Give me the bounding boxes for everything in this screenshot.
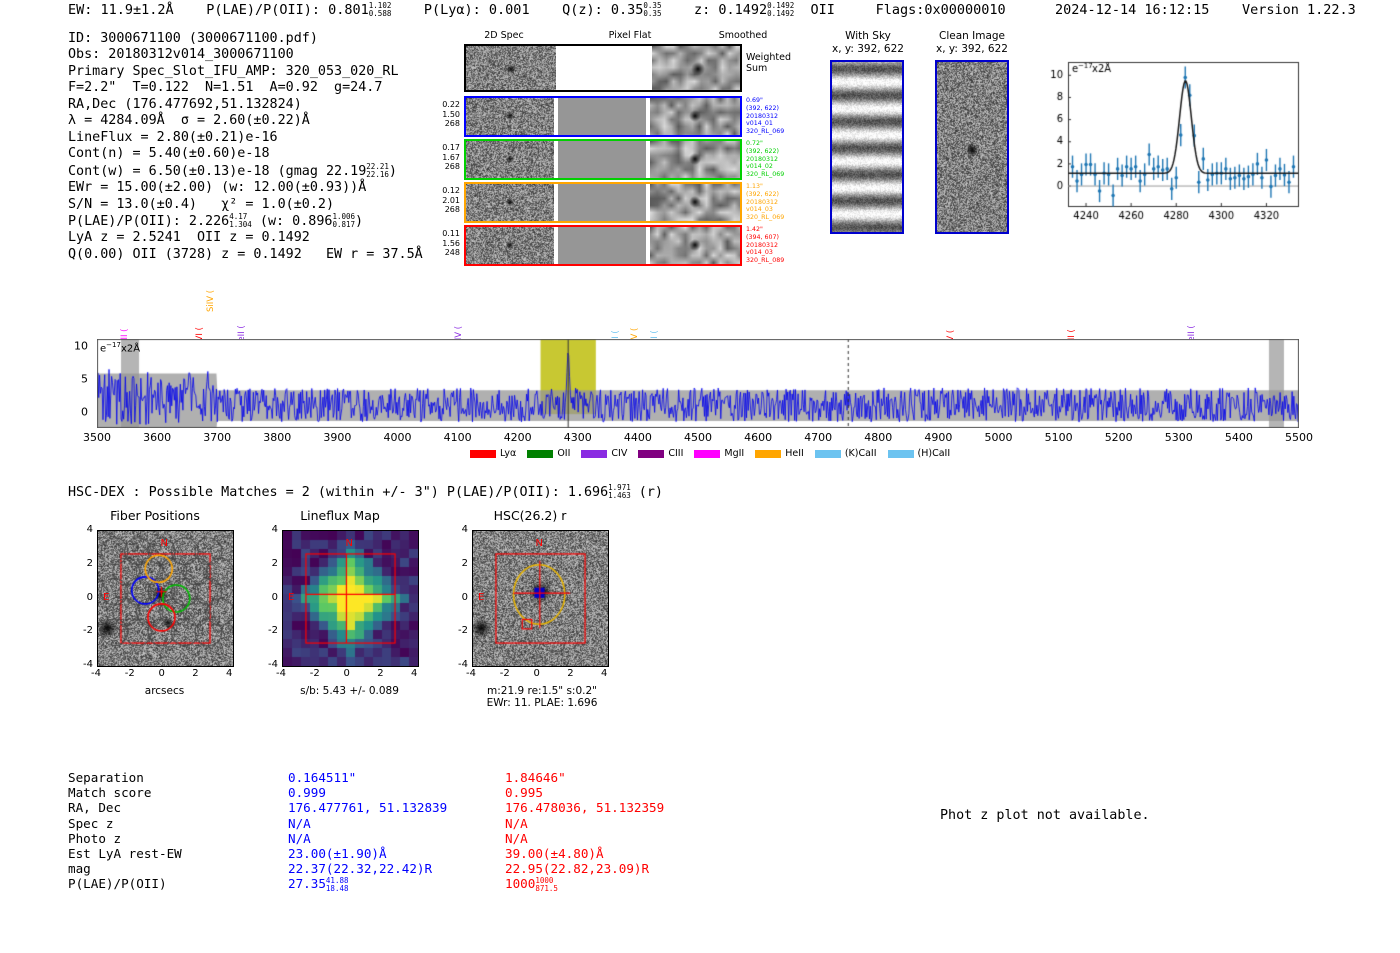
- fiber-right-meta: 1.42"(394, 607)20180312v014_03320_RL_089: [746, 226, 784, 265]
- fiber-right-meta: 0.69"(392, 622)20180312v014_01320_RL_069: [746, 97, 784, 136]
- fiber-rows-container: 0.221.502680.69"(392, 622)20180312v014_0…: [430, 96, 820, 268]
- spec2d-panel: 2D Spec Pixel Flat Smoothed Weighted Sum…: [430, 30, 820, 270]
- match-value-col1: N/A: [288, 816, 311, 831]
- cutout-x-tick: -2: [125, 668, 135, 679]
- header-qz: Q(z): 0.35: [562, 2, 643, 18]
- cutout-xlabel: arcsecs: [97, 685, 232, 697]
- fiber-image-strip: [464, 139, 742, 180]
- match-value-col1: 22.37(22.32,22.42)R: [288, 861, 432, 876]
- x-tick: 4400: [624, 431, 652, 444]
- header-datetime: 2024-12-14 16:12:15: [1055, 2, 1209, 18]
- match-value-col1: 23.00(±1.90)Å: [288, 846, 387, 861]
- header-z: z: 0.1492: [694, 2, 767, 18]
- clean-image-title: Clean Imagex, y: 392, 622: [922, 30, 1022, 56]
- clean-image-image: [935, 60, 1009, 234]
- x-tick: 5300: [1165, 431, 1193, 444]
- header-plae-range: 1.1020.588: [369, 2, 392, 18]
- x-tick: 3800: [263, 431, 291, 444]
- legend-swatch: [888, 450, 914, 458]
- legend-label: Lyα: [500, 448, 516, 459]
- cutout-y-tick: -4: [77, 659, 93, 670]
- header-z-range: 0.14920.1492: [767, 2, 794, 18]
- photz-note: Phot z plot not available.: [940, 808, 1150, 823]
- cutout-x-tick: -2: [310, 668, 320, 679]
- legend-swatch: [581, 450, 607, 458]
- match-row-label: P(LAE)/P(OII): [68, 876, 278, 891]
- header-timestamp-version: 2024-12-14 16:12:15 Version 1.22.3: [1055, 2, 1356, 18]
- emission-line-fit-plot: [1032, 52, 1304, 234]
- detection-info-block: ID: 3000671100 (3000671100.pdf) Obs: 201…: [68, 31, 423, 263]
- cutout-y-tick: -4: [452, 659, 468, 670]
- x-tick: 5000: [985, 431, 1013, 444]
- legend-label: (K)CaII: [845, 448, 877, 459]
- cutout-y-tick: 4: [77, 524, 93, 535]
- fiber-left-stats: 0.122.01268: [430, 186, 460, 215]
- cutout-y-tick: -4: [262, 659, 278, 670]
- legend-label: CIV: [611, 448, 627, 459]
- info-line-id: ID: 3000671100 (3000671100.pdf): [68, 31, 423, 47]
- lineflux-axis-ticks: -4-4-2-2002244NE: [240, 508, 440, 708]
- legend-swatch: [527, 450, 553, 458]
- legend-swatch: [638, 450, 664, 458]
- header-flags: Flags:0x00000010: [876, 2, 1006, 18]
- fiber-row: 0.221.502680.69"(392, 622)20180312v014_0…: [430, 96, 820, 139]
- x-tick: 4700: [804, 431, 832, 444]
- x-tick: 4100: [444, 431, 472, 444]
- cutout-y-tick: 2: [452, 558, 468, 569]
- info-line-q: Q(0.00) OII (3728) z = 0.1492 EW r = 37.…: [68, 247, 423, 263]
- fiber-left-stats: 0.171.67268: [430, 143, 460, 172]
- legend-item: OII: [527, 448, 570, 459]
- info-line-ewr: EWr = 15.00(±2.00) (w: 12.00(±0.93))Å: [68, 180, 423, 196]
- cutout-x-tick: 0: [534, 668, 540, 679]
- x-tick: 3500: [83, 431, 111, 444]
- cutout-x-tick: 4: [601, 668, 607, 679]
- x-tick: 5500: [1285, 431, 1313, 444]
- match-row-label: Est LyA rest-EW: [68, 846, 278, 861]
- cutout-lineflux-map: Lineflux Map -4-4-2-2002244NE s/b: 5.43 …: [240, 508, 440, 523]
- legend-label: OII: [557, 448, 570, 459]
- full-spectrum-plot: CIII (OVI (HeII (SiIV (SiIV (OII (CIV (O…: [0, 280, 1400, 470]
- x-tick: 4300: [564, 431, 592, 444]
- header-qz-range: 0.350.35: [643, 2, 661, 18]
- spectrum-x-axis: 3500360037003800390040004100420043004400…: [97, 430, 1299, 448]
- legend-swatch: [470, 450, 496, 458]
- legend-item: (K)CaII: [815, 448, 877, 459]
- match-value-col2: N/A: [505, 816, 528, 831]
- weighted-sum-row: [464, 44, 742, 92]
- fiber-left-stats: 0.111.56248: [430, 229, 460, 258]
- spectrum-legend: LyαOIICIVCIIIMgIIHeII(K)CaII(H)CaII: [470, 448, 950, 459]
- cutout-x-tick: 4: [226, 668, 232, 679]
- legend-label: (H)CaII: [918, 448, 951, 459]
- match-row-label: Photo z: [68, 831, 278, 846]
- legend-item: HeII: [755, 448, 804, 459]
- legend-item: CIV: [581, 448, 627, 459]
- cutout-x-tick: 0: [159, 668, 165, 679]
- match-value-col2-range: 1000871.5: [535, 877, 558, 893]
- legend-label: MgII: [724, 448, 744, 459]
- x-tick: 4600: [744, 431, 772, 444]
- col-title-2dspec: 2D Spec: [444, 30, 564, 41]
- cutout-x-tick: 2: [377, 668, 383, 679]
- legend-item: Lyα: [470, 448, 516, 459]
- cutout-y-tick: -2: [262, 625, 278, 636]
- info-line-obs: Obs: 20180312v014_3000671100: [68, 47, 423, 63]
- info-line-primary-spec: Primary Spec_Slot_IFU_AMP: 320_053_020_R…: [68, 64, 423, 80]
- legend-swatch: [755, 450, 781, 458]
- weighted-sum-label: Weighted Sum: [746, 52, 791, 74]
- x-tick: 5400: [1225, 431, 1253, 444]
- legend-item: (H)CaII: [888, 448, 951, 459]
- match-row-label: RA, Dec: [68, 800, 278, 815]
- fiber-row: 0.171.672680.72"(392, 622)20180312v014_0…: [430, 139, 820, 182]
- match-value-col2: 176.478036, 51.132359: [505, 800, 664, 815]
- match-value-col1: 176.477761, 51.132839: [288, 800, 447, 815]
- legend-item: CIII: [638, 448, 683, 459]
- match-value-col2: 10001000871.5: [505, 876, 558, 893]
- cutout-y-tick: 0: [262, 592, 278, 603]
- spectrum-y-unit-label: e−17x2Å: [100, 341, 140, 354]
- cutout-y-tick: -2: [77, 625, 93, 636]
- match-value-col1-range: 41.8818.48: [326, 877, 349, 893]
- x-tick: 4900: [924, 431, 952, 444]
- fiber-row: 0.122.012681.13"(392, 622)20180312v014_0…: [430, 182, 820, 225]
- x-tick: 4000: [384, 431, 412, 444]
- hscdex-header: HSC-DEX : Possible Matches = 2 (within +…: [68, 484, 663, 500]
- info-line-redshifts: LyA z = 2.5241 OII z = 0.1492: [68, 230, 423, 246]
- cutout-y-tick: -2: [452, 625, 468, 636]
- legend-label: HeII: [785, 448, 804, 459]
- info-line-lineflux: LineFlux = 2.80(±0.21)e-16: [68, 130, 423, 146]
- sky-image-panels: With Skyx, y: 392, 622 Clean Imagex, y: …: [822, 30, 1022, 270]
- cutout-fiber-positions: Fiber Positions -4-4-2-2002244NE arcsecs: [55, 508, 255, 523]
- header-ew: EW: 11.9±1.2Å: [68, 2, 174, 18]
- cutout-x-tick: 4: [411, 668, 417, 679]
- hsc-axis-ticks: -4-4-2-2002244NE: [430, 508, 640, 708]
- legend-swatch: [815, 450, 841, 458]
- match-row-label: mag: [68, 861, 278, 876]
- cutout-xlabel2: EWr: 11. PLAE: 1.696: [442, 697, 642, 709]
- cutout-x-tick: 0: [344, 668, 350, 679]
- match-value-col2: 0.995: [505, 785, 543, 800]
- cutout-x-tick: 2: [567, 668, 573, 679]
- spectral-line-labels: CIII (OVI (HeII (SiIV (SiIV (OII (CIV (O…: [0, 280, 1400, 340]
- x-tick: 4500: [684, 431, 712, 444]
- cutout-xlabel: m:21.9 re:1.5" s:0.2": [442, 685, 642, 697]
- match-row-label: Match score: [68, 785, 278, 800]
- info-line-params: F=2.2" T=0.122 N=1.51 A=0.92 g=24.7: [68, 80, 423, 96]
- compass-east: E: [288, 592, 294, 603]
- cutout-y-tick: 0: [77, 592, 93, 603]
- header-version: Version 1.22.3: [1242, 2, 1356, 18]
- match-value-col2: N/A: [505, 831, 528, 846]
- x-tick: 3900: [323, 431, 351, 444]
- fiber-left-stats: 0.221.50268: [430, 100, 460, 129]
- fiber-image-strip: [464, 182, 742, 223]
- match-value-col1: N/A: [288, 831, 311, 846]
- info-line-sn-chi2: S/N = 13.0(±0.4) χ² = 1.0(±0.2): [68, 197, 423, 213]
- cutout-y-tick: 4: [262, 524, 278, 535]
- col-title-smoothed: Smoothed: [688, 30, 798, 41]
- info-line-lambda-sigma: λ = 4284.09Å σ = 2.60(±0.22)Å: [68, 113, 423, 129]
- match-table: Separation0.164511"1.84646"Match score0.…: [68, 770, 768, 900]
- x-tick: 3700: [203, 431, 231, 444]
- cutout-y-tick: 2: [77, 558, 93, 569]
- info-line-plae: P(LAE)/P(OII): 2.2264.171.304 (w: 0.8961…: [68, 213, 423, 230]
- cutout-xlabel: s/b: 5.43 +/- 0.089: [262, 685, 437, 697]
- col-title-pixelflat: Pixel Flat: [570, 30, 690, 41]
- cutout-y-tick: 4: [452, 524, 468, 535]
- match-value-col1: 0.999: [288, 785, 326, 800]
- header-plya: P(Lyα): 0.001: [424, 2, 530, 18]
- cutout-x-tick: 2: [192, 668, 198, 679]
- cutout-panels: Fiber Positions -4-4-2-2002244NE arcsecs…: [55, 508, 675, 718]
- x-tick: 4200: [504, 431, 532, 444]
- with-sky-image: [830, 60, 904, 234]
- match-value-col2: 22.95(22.82,23.09)R: [505, 861, 649, 876]
- cutout-x-tick: -2: [500, 668, 510, 679]
- with-sky-title: With Skyx, y: 392, 622: [822, 30, 914, 56]
- spectrum-y-axis: 0510: [60, 339, 94, 428]
- y-tick: 5: [81, 372, 88, 385]
- cutout-hsc-r: HSC(26.2) r -4-4-2-2002244NE m:21.9 re:1…: [430, 508, 640, 523]
- spectral-line-label: SiIV (: [206, 290, 216, 312]
- compass-east: E: [478, 592, 484, 603]
- fiber-right-meta: 0.72"(392, 622)20180312v014_02320_RL_069: [746, 140, 784, 179]
- fiber-image-strip: [464, 225, 742, 266]
- compass-east: E: [103, 592, 109, 603]
- match-value-col1: 0.164511": [288, 770, 356, 785]
- x-tick: 3600: [143, 431, 171, 444]
- info-line-cont-n: Cont(n) = 5.40(±0.60)e-18: [68, 146, 423, 162]
- compass-north: N: [536, 538, 543, 549]
- legend-item: MgII: [694, 448, 744, 459]
- match-row-label: Separation: [68, 770, 278, 785]
- legend-swatch: [694, 450, 720, 458]
- match-value-col2: 1.84646": [505, 770, 566, 785]
- match-value-col2: 39.00(±4.80)Å: [505, 846, 604, 861]
- info-line-cont-w: Cont(w) = 6.50(±0.13)e-18 (gmag 22.1922.…: [68, 163, 423, 180]
- header-z-type: OII: [811, 2, 835, 18]
- legend-label: CIII: [668, 448, 683, 459]
- fiber-right-meta: 1.13"(392, 622)20180312v014_03320_RL_069: [746, 183, 784, 222]
- match-row-label: Spec z: [68, 816, 278, 831]
- cutout-y-tick: 0: [452, 592, 468, 603]
- spectrum-canvas: [97, 339, 1299, 428]
- info-line-radec: RA,Dec (176.477692,51.132824): [68, 97, 423, 113]
- x-tick: 4800: [864, 431, 892, 444]
- compass-north: N: [346, 538, 353, 549]
- cutout-y-tick: 2: [262, 558, 278, 569]
- fiber-row: 0.111.562481.42"(394, 607)20180312v014_0…: [430, 225, 820, 268]
- y-tick: 10: [74, 339, 88, 352]
- x-tick: 5100: [1045, 431, 1073, 444]
- y-tick: 0: [81, 405, 88, 418]
- header-plae: P(LAE)/P(OII): 0.801: [206, 2, 369, 18]
- fiber-axis-ticks: -4-4-2-2002244NE: [55, 508, 255, 708]
- fiber-image-strip: [464, 96, 742, 137]
- compass-north: N: [161, 538, 168, 549]
- x-tick: 5200: [1105, 431, 1133, 444]
- match-value-col1: 27.3541.8818.48: [288, 876, 349, 893]
- header-summary-line: EW: 11.9±1.2Å P(LAE)/P(OII): 0.8011.1020…: [68, 2, 1006, 18]
